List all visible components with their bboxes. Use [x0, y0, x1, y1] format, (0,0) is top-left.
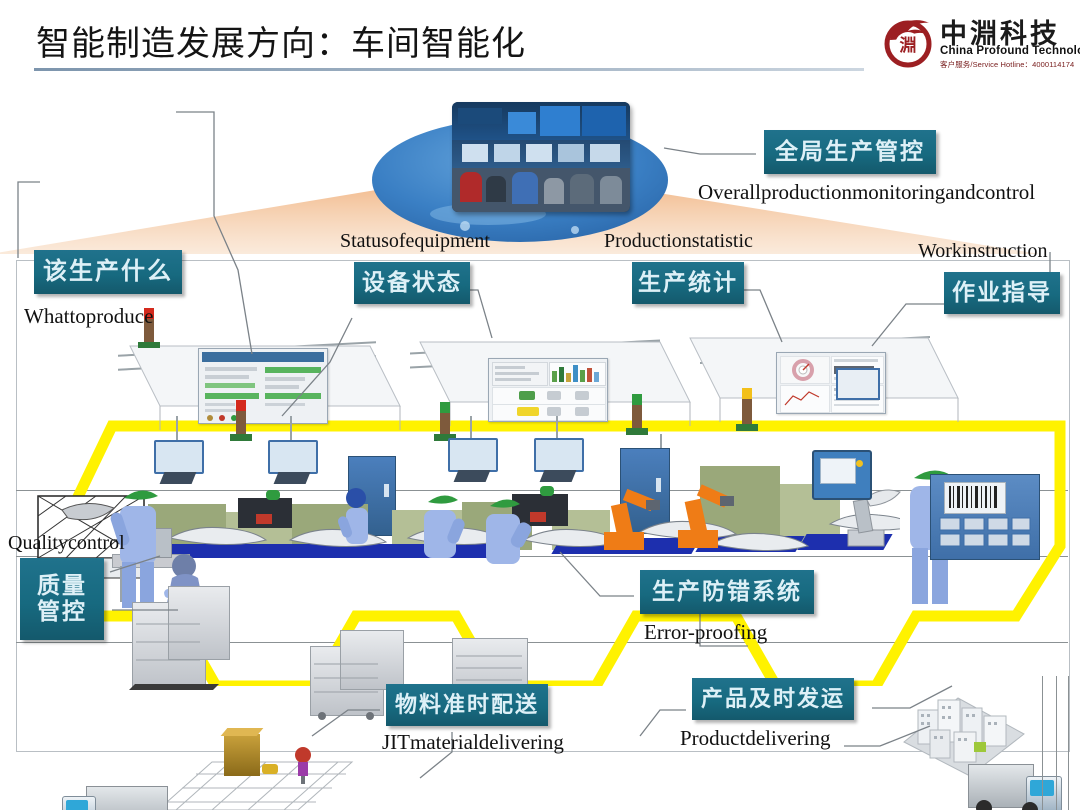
callout-product-delivering-en: Productdelivering [680, 726, 830, 751]
title-underline [34, 68, 864, 71]
logo-hotline: 客户服务/Service Hotline：4000114174 [940, 59, 1074, 70]
logo-english-name: China Profound Technology [940, 45, 1080, 57]
dragon-seal-icon: 淵 [882, 14, 938, 70]
slide-header: 智能制造发展方向：车间智能化 淵 中淵科技 China Profound Tec… [0, 0, 1080, 86]
callout-jit-material-label: 物料准时配送 [395, 693, 539, 718]
callout-what-to-produce-en: Whattoproduce [24, 304, 153, 329]
callout-equipment-status-label: 设备状态 [362, 270, 462, 296]
callout-work-instruction-label: 作业指导 [952, 280, 1052, 306]
svg-text:淵: 淵 [900, 36, 917, 55]
callout-product-delivering-label: 产品及时发运 [701, 687, 845, 712]
callout-quality-control-line1: 质量 [37, 573, 87, 599]
callout-jit-material-en: JITmaterialdelivering [382, 730, 564, 755]
callout-equipment-status-en: Statusofequipment [340, 230, 490, 253]
factory-diagram: 该生产什么 Whattoproduce 全局生产管控 Overallproduc… [0, 86, 1080, 810]
callout-production-statistic-en: Productionstatistic [604, 230, 753, 253]
callout-work-instruction[interactable]: 作业指导 [944, 272, 1060, 314]
callout-what-to-produce[interactable]: 该生产什么 [34, 250, 182, 294]
callout-overall-monitoring[interactable]: 全局生产管控 [764, 130, 936, 174]
callout-production-statistic-label: 生产统计 [638, 270, 738, 296]
callout-quality-control[interactable]: 质量 管控 [20, 558, 104, 640]
callout-work-instruction-en: Workinstruction [918, 240, 1047, 263]
company-logo: 淵 中淵科技 China Profound Technology 客户服务/Se… [878, 10, 1074, 74]
callout-jit-material[interactable]: 物料准时配送 [386, 684, 548, 726]
callout-error-proofing-label: 生产防错系统 [652, 579, 802, 605]
callout-error-proofing-en: Error-proofing [644, 620, 767, 645]
callout-quality-control-line2: 管控 [37, 599, 87, 625]
callout-what-to-produce-label: 该生产什么 [43, 259, 173, 286]
page-title: 智能制造发展方向：车间智能化 [36, 16, 526, 65]
callout-error-proofing[interactable]: 生产防错系统 [640, 570, 814, 614]
slide-canvas: 智能制造发展方向：车间智能化 淵 中淵科技 China Profound Tec… [0, 0, 1080, 810]
callout-overall-monitoring-en: Overallproductionmonitoringandcontrol [698, 180, 1035, 205]
callout-equipment-status[interactable]: 设备状态 [354, 262, 470, 304]
callout-overall-monitoring-label: 全局生产管控 [775, 139, 925, 165]
callout-product-delivering[interactable]: 产品及时发运 [692, 678, 854, 720]
callout-quality-control-en: Qualitycontrol [8, 532, 125, 555]
callout-production-statistic[interactable]: 生产统计 [632, 262, 744, 304]
